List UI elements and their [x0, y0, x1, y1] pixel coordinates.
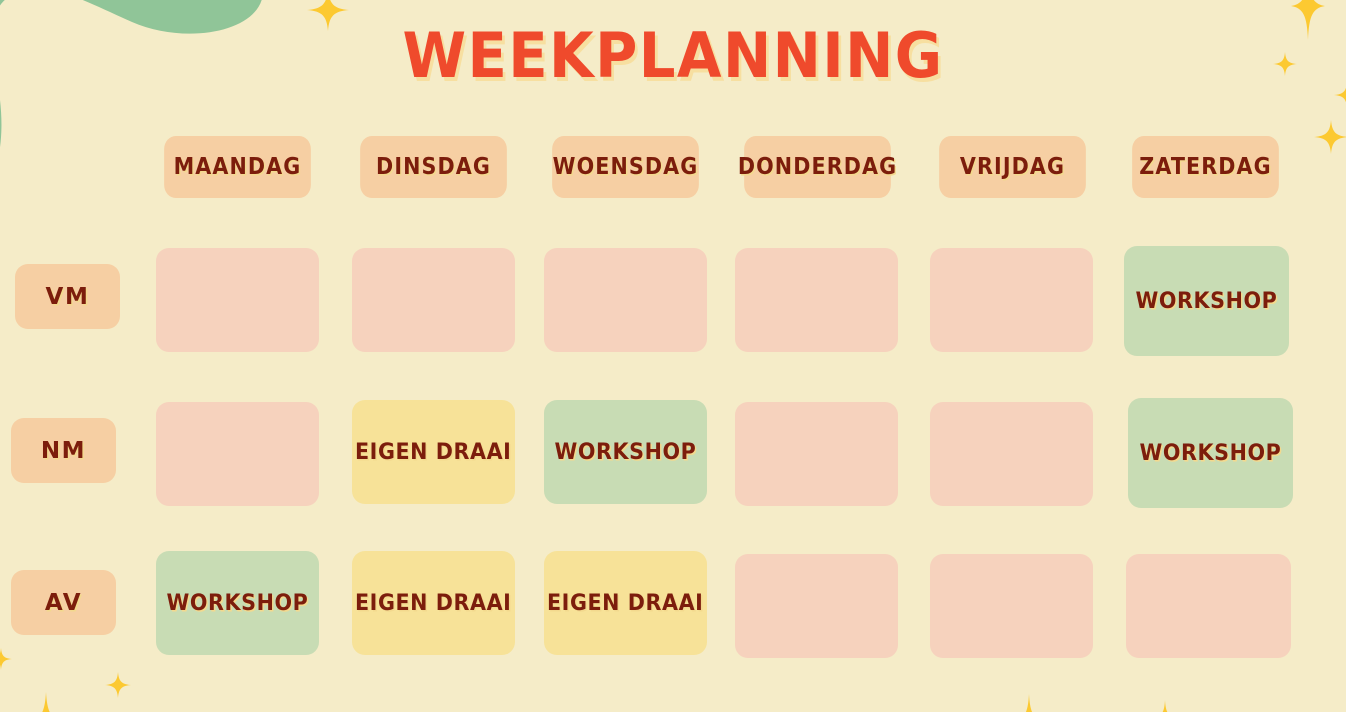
slot-label: WORKSHOP — [555, 440, 697, 465]
day-header-label: DINSDAG — [376, 154, 491, 180]
slot-nm-maandag[interactable] — [156, 402, 319, 506]
slot-av-zaterdag[interactable] — [1126, 554, 1291, 658]
day-header-label: DONDERDAG — [738, 154, 897, 180]
day-header-label: VRIJDAG — [960, 154, 1065, 180]
day-header-label: ZATERDAG — [1139, 154, 1271, 180]
row-header-vm[interactable]: VM — [15, 264, 120, 329]
slot-label: WORKSHOP — [167, 591, 309, 616]
day-header-woensdag[interactable]: WOENSDAG — [552, 136, 699, 198]
row-header-label: NM — [41, 438, 86, 464]
slot-nm-dinsdag[interactable]: EIGEN DRAAI — [352, 400, 515, 504]
slot-nm-vrijdag[interactable] — [930, 402, 1093, 506]
slot-nm-zaterdag[interactable]: WORKSHOP — [1128, 398, 1293, 508]
day-header-donderdag[interactable]: DONDERDAG — [744, 136, 891, 198]
row-header-label: VM — [46, 284, 90, 310]
slot-label: EIGEN DRAAI — [547, 591, 703, 616]
slot-vm-dinsdag[interactable] — [352, 248, 515, 352]
slot-label: WORKSHOP — [1136, 289, 1278, 314]
page-title: WEEKPLANNING — [47, 14, 1299, 98]
day-header-label: MAANDAG — [174, 154, 302, 180]
slot-label: EIGEN DRAAI — [355, 591, 511, 616]
slot-av-maandag[interactable]: WORKSHOP — [156, 551, 319, 655]
row-header-label: AV — [45, 590, 82, 616]
slot-av-woensdag[interactable]: EIGEN DRAAI — [544, 551, 707, 655]
weekplanning-grid: MAANDAGDINSDAGWOENSDAGDONDERDAGVRIJDAGZA… — [0, 0, 1346, 712]
slot-av-dinsdag[interactable]: EIGEN DRAAI — [352, 551, 515, 655]
day-header-zaterdag[interactable]: ZATERDAG — [1132, 136, 1279, 198]
slot-av-vrijdag[interactable] — [930, 554, 1093, 658]
weekplanner-canvas: WEEKPLANNING MAANDAGDINSDAGWOENSDAGDONDE… — [0, 0, 1346, 712]
slot-vm-woensdag[interactable] — [544, 248, 707, 352]
day-header-vrijdag[interactable]: VRIJDAG — [939, 136, 1086, 198]
slot-nm-donderdag[interactable] — [735, 402, 898, 506]
day-header-maandag[interactable]: MAANDAG — [164, 136, 311, 198]
slot-nm-woensdag[interactable]: WORKSHOP — [544, 400, 707, 504]
slot-vm-zaterdag[interactable]: WORKSHOP — [1124, 246, 1289, 356]
slot-vm-donderdag[interactable] — [735, 248, 898, 352]
row-header-nm[interactable]: NM — [11, 418, 116, 483]
row-header-av[interactable]: AV — [11, 570, 116, 635]
slot-vm-vrijdag[interactable] — [930, 248, 1093, 352]
day-header-dinsdag[interactable]: DINSDAG — [360, 136, 507, 198]
slot-av-donderdag[interactable] — [735, 554, 898, 658]
slot-label: EIGEN DRAAI — [355, 440, 511, 465]
slot-label: WORKSHOP — [1140, 441, 1282, 466]
day-header-label: WOENSDAG — [553, 154, 699, 180]
slot-vm-maandag[interactable] — [156, 248, 319, 352]
